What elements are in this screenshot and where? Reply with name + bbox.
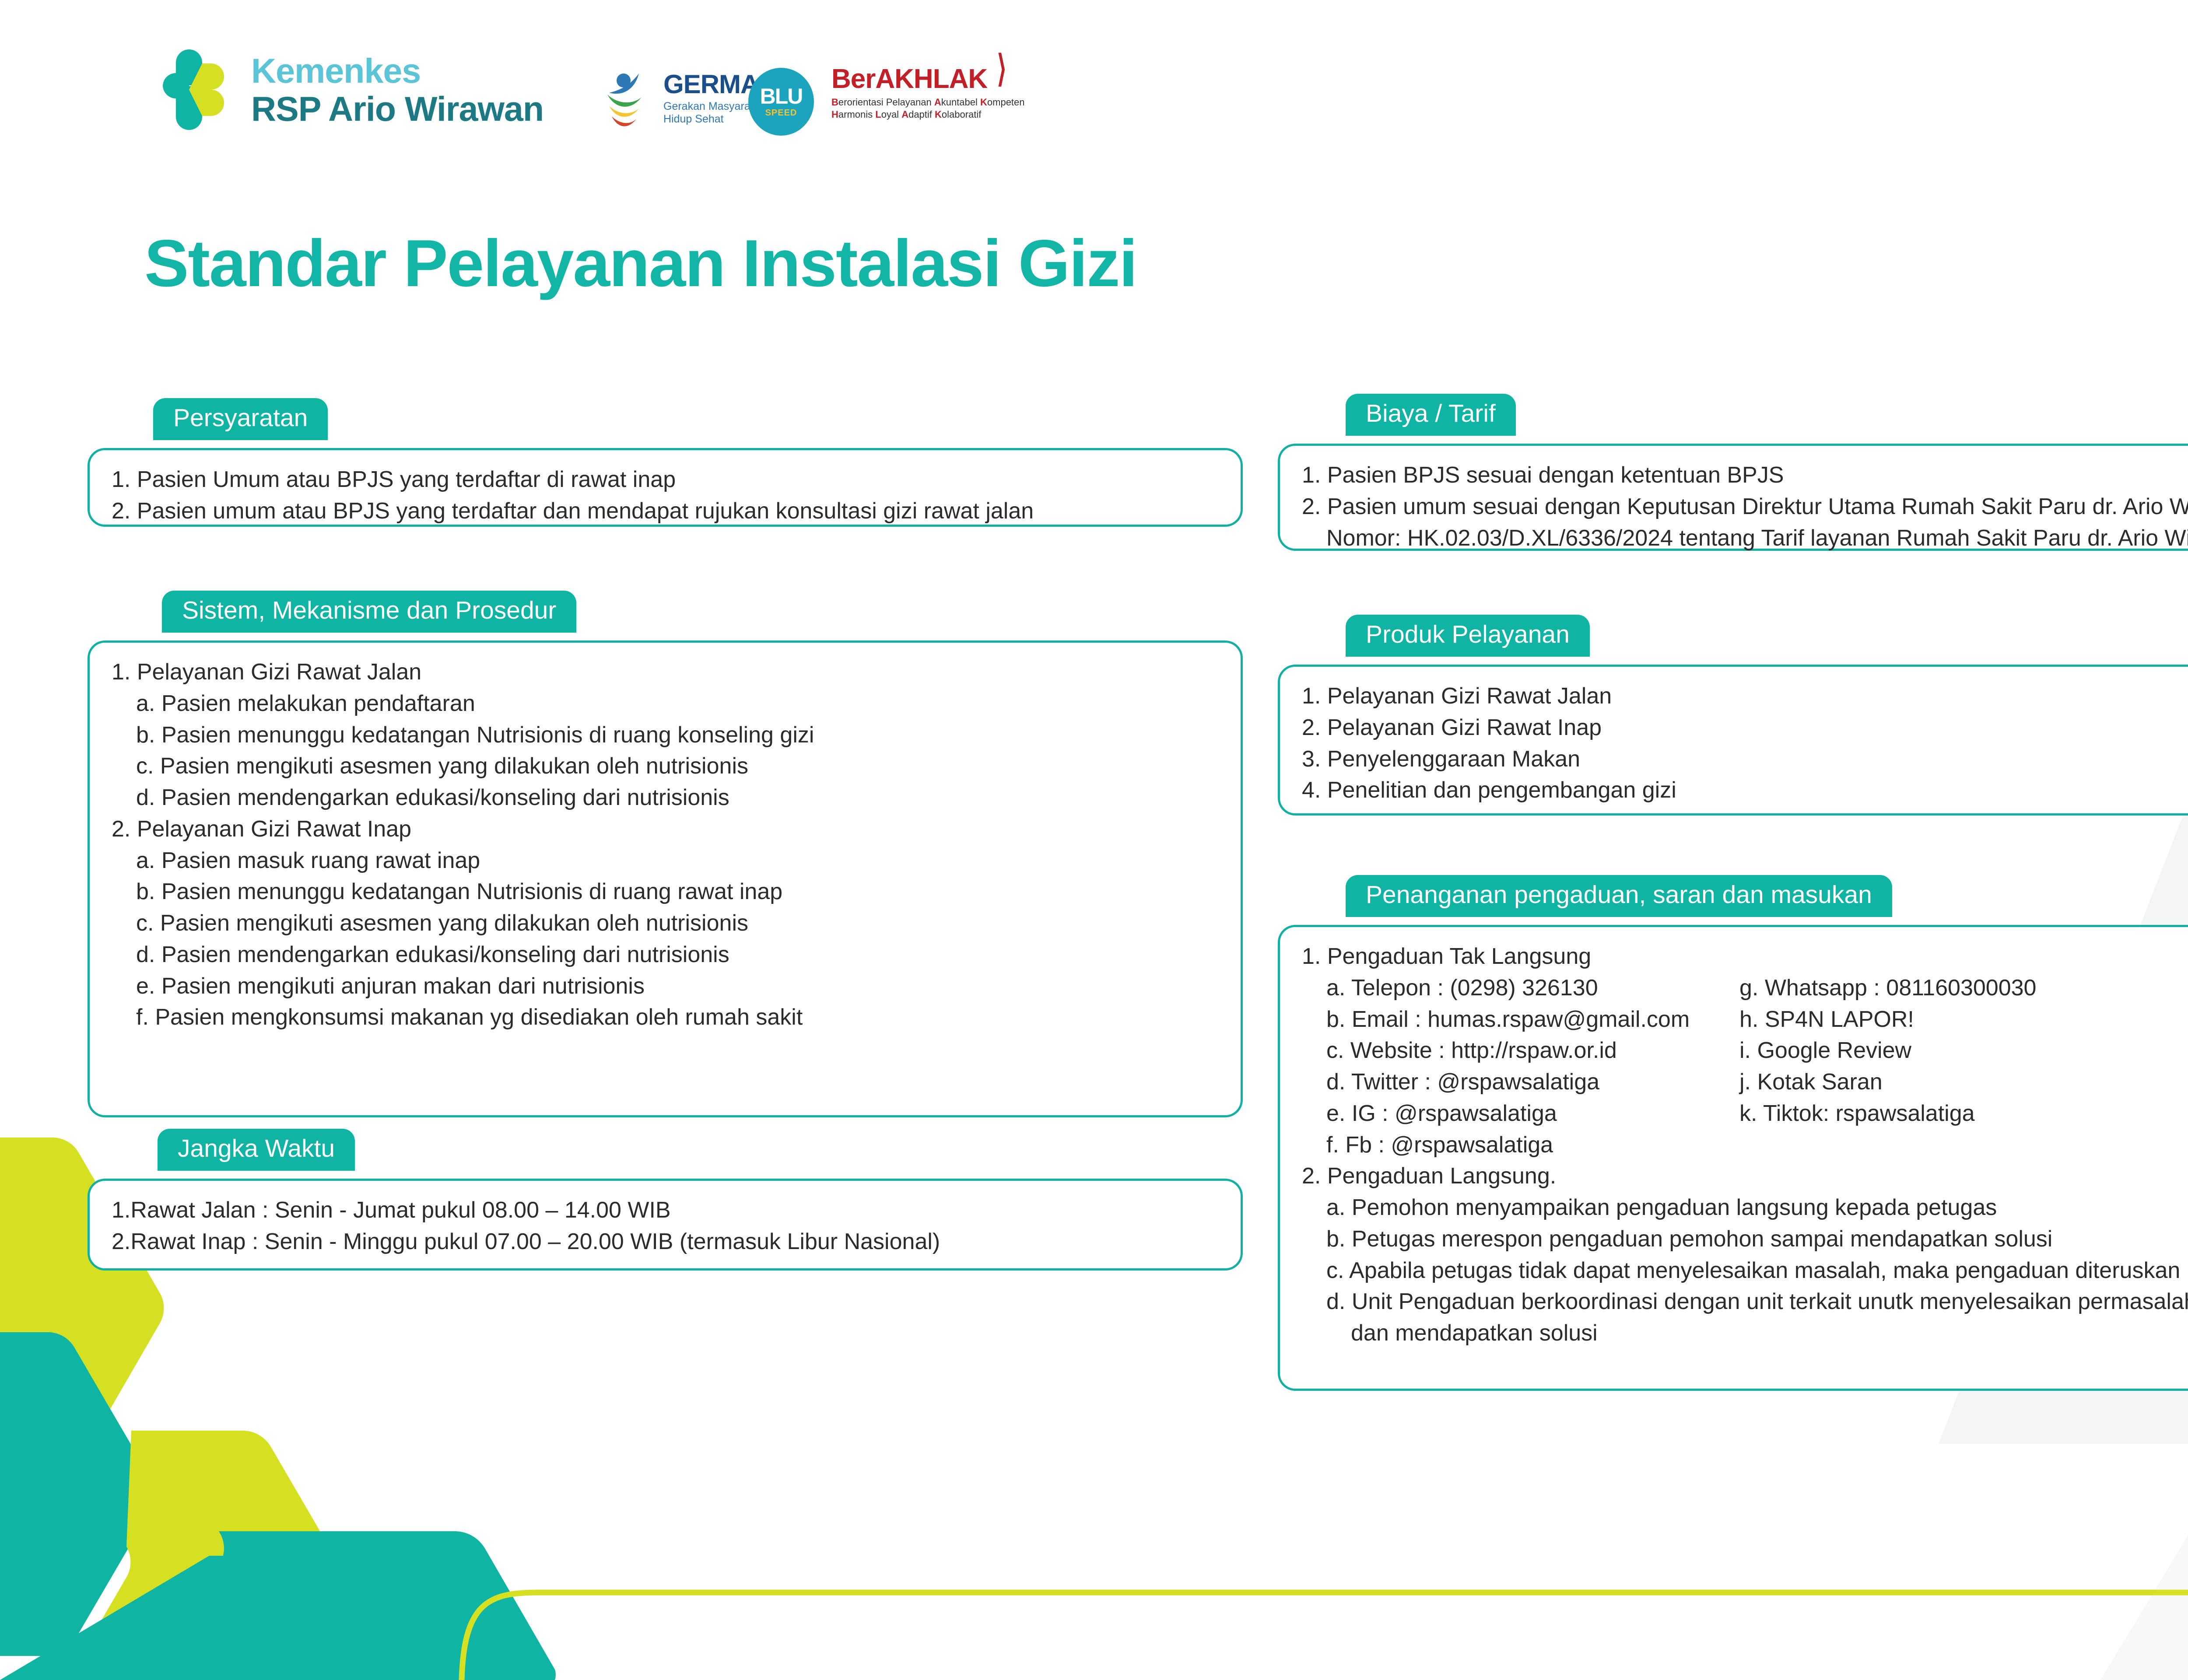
biaya-list: 1. Pasien BPJS sesuai dengan ketentuan B… (1280, 446, 2188, 568)
pengaduan-step: dan mendapatkan solusi (1302, 1318, 2188, 1349)
pengaduan-contacts: a. Telepon : (0298) 326130b. Email : hum… (1302, 973, 2188, 1161)
card-tab-jangka-waktu: Jangka Waktu (158, 1129, 355, 1171)
produk-line: 4. Penelitian dan pengembangan gizi (1302, 775, 2188, 806)
pengaduan-contact: a. Telepon : (0298) 326130 (1302, 973, 1739, 1004)
pengaduan-step: a. Pemohon menyampaikan pengaduan langsu… (1302, 1192, 2188, 1224)
berakhlak-sub-line1: Berorientasi Pelayanan Akuntabel Kompete… (831, 96, 1025, 108)
berakhlak-logo-name: BerAKHLAK (831, 64, 987, 94)
blu-logo-tagline: SPEED (765, 108, 797, 118)
prosedur-item: d. Pasien mendengarkan edukasi/konseling… (112, 782, 1219, 814)
kemenkes-logo: Kemenkes RSP Ario Wirawan (162, 46, 543, 133)
card-body-persyaratan: 1. Pasien Umum atau BPJS yang terdaftar … (88, 448, 1243, 527)
blu-logo-name: BLU (760, 85, 803, 107)
card-tab-persyaratan: Persyaratan (153, 398, 328, 440)
prosedur-item: 2. Pelayanan Gizi Rawat Inap (112, 814, 1219, 845)
prosedur-item: a. Pasien melakukan pendaftaran (112, 688, 1219, 720)
pengaduan-heading-2: 2. Pengaduan Langsung. (1302, 1161, 2188, 1192)
card-body-jangka-waktu: 1.Rawat Jalan : Senin - Jumat pukul 08.0… (88, 1179, 1243, 1270)
prosedur-item: c. Pasien mengikuti asesmen yang dilakuk… (112, 908, 1219, 939)
prosedur-item: b. Pasien menunggu kedatangan Nutrisioni… (112, 720, 1219, 751)
pengaduan-contact: i. Google Review (1739, 1035, 2188, 1067)
pengaduan-contacts-right: g. Whatsapp : 081160300030h. SP4N LAPOR!… (1739, 973, 2188, 1161)
biaya-item: 2. Pasien umum sesuai dengan Keputusan D… (1302, 491, 2188, 523)
pengaduan-contact: d. Twitter : @rspawsalatiga (1302, 1067, 1739, 1098)
kemenkes-logo-line1: Kemenkes (251, 53, 543, 88)
produk-line: 2. Pelayanan Gizi Rawat Inap (1302, 712, 2188, 744)
pengaduan-contact: b. Email : humas.rspaw@gmail.com (1302, 1004, 1739, 1036)
prosedur-item: d. Pasien mendengarkan edukasi/konseling… (112, 939, 1219, 971)
card-tab-biaya-tarif: Biaya / Tarif (1346, 394, 1516, 436)
prosedur-item: f. Pasien mengkonsumsi makanan yg disedi… (112, 1002, 1219, 1033)
pengaduan-step: b. Petugas merespon pengaduan pemohon sa… (1302, 1224, 2188, 1255)
produk-line: 3. Penyelenggaraan Makan (1302, 744, 2188, 775)
page-title: Standar Pelayanan Instalasi Gizi (144, 225, 1137, 302)
prosedur-item: e. Pasien mengikuti anjuran makan dari n… (112, 971, 1219, 1002)
berakhlak-sub-line2: Harmonis Loyal Adaptif Kolaboratif (831, 108, 1025, 121)
prosedur-list: 1. Pelayanan Gizi Rawat Jalana. Pasien m… (90, 643, 1241, 1047)
bottom-accent-line (462, 1592, 2188, 1680)
pengaduan-contact: g. Whatsapp : 081160300030 (1739, 973, 2188, 1004)
card-body-prosedur: 1. Pelayanan Gizi Rawat Jalana. Pasien m… (88, 640, 1243, 1117)
blu-logo: BLU SPEED (748, 68, 814, 136)
poster-canvas: Kemenkes RSP Ario Wirawan GERMAS Gerakan… (0, 0, 2188, 1680)
card-body-pengaduan: 1. Pengaduan Tak Langsung a. Telepon : (… (1278, 925, 2188, 1391)
pengaduan-steps: a. Pemohon menyampaikan pengaduan langsu… (1302, 1192, 2188, 1349)
pengaduan-contacts-left: a. Telepon : (0298) 326130b. Email : hum… (1302, 973, 1739, 1161)
prosedur-item: a. Pasien masuk ruang rawat inap (112, 845, 1219, 877)
chevron-right-icon: ⟩ (997, 47, 1006, 91)
persyaratan-line: 2. Pasien umum atau BPJS yang terdaftar … (112, 496, 1219, 527)
kemenkes-logo-line2: RSP Ario Wirawan (251, 91, 543, 126)
prosedur-item: c. Pasien mengikuti asesmen yang dilakuk… (112, 751, 1219, 782)
berakhlak-logo: BerAKHLAK ⟩ Berorientasi Pelayanan Akunt… (831, 66, 1025, 120)
pengaduan-contact: e. IG : @rspawsalatiga (1302, 1098, 1739, 1130)
header: Kemenkes RSP Ario Wirawan GERMAS Gerakan… (0, 0, 2188, 188)
kemenkes-flower-mark (162, 46, 236, 133)
card-body-biaya-tarif: 1. Pasien BPJS sesuai dengan ketentuan B… (1278, 444, 2188, 551)
prosedur-item: b. Pasien menunggu kedatangan Nutrisioni… (112, 876, 1219, 908)
jangka-waktu-line: 2.Rawat Inap : Senin - Minggu pukul 07.0… (112, 1226, 1219, 1258)
germas-figure-icon (604, 66, 656, 131)
pengaduan-contact: j. Kotak Saran (1739, 1067, 2188, 1098)
card-tab-pengaduan: Penanganan pengaduan, saran dan masukan (1346, 875, 1892, 917)
biaya-item: Nomor: HK.02.03/D.XL/6336/2024 tentang T… (1302, 523, 2188, 554)
biaya-item: 1. Pasien BPJS sesuai dengan ketentuan B… (1302, 460, 2188, 491)
pengaduan-contact: c. Website : http://rspaw.or.id (1302, 1035, 1739, 1067)
pengaduan-contact: f. Fb : @rspawsalatiga (1302, 1130, 1739, 1161)
pengaduan-heading-1: 1. Pengaduan Tak Langsung (1302, 941, 2188, 973)
prosedur-item: 1. Pelayanan Gizi Rawat Jalan (112, 657, 1219, 688)
card-tab-produk-pelayanan: Produk Pelayanan (1346, 615, 1590, 657)
card-tab-prosedur: Sistem, Mekanisme dan Prosedur (162, 591, 576, 633)
pengaduan-step: d. Unit Pengaduan berkoordinasi dengan u… (1302, 1286, 2188, 1318)
pengaduan-contact: h. SP4N LAPOR! (1739, 1004, 2188, 1036)
persyaratan-line: 1. Pasien Umum atau BPJS yang terdaftar … (112, 464, 1219, 496)
produk-line: 1. Pelayanan Gizi Rawat Jalan (1302, 681, 2188, 712)
card-body-produk-pelayanan: 1. Pelayanan Gizi Rawat Jalan 2. Pelayan… (1278, 665, 2188, 815)
pengaduan-contact: k. Tiktok: rspawsalatiga (1739, 1098, 2188, 1130)
jangka-waktu-line: 1.Rawat Jalan : Senin - Jumat pukul 08.0… (112, 1195, 1219, 1226)
blu-oval-icon: BLU SPEED (748, 68, 814, 136)
pengaduan-step: c. Apabila petugas tidak dapat menyelesa… (1302, 1255, 2188, 1287)
